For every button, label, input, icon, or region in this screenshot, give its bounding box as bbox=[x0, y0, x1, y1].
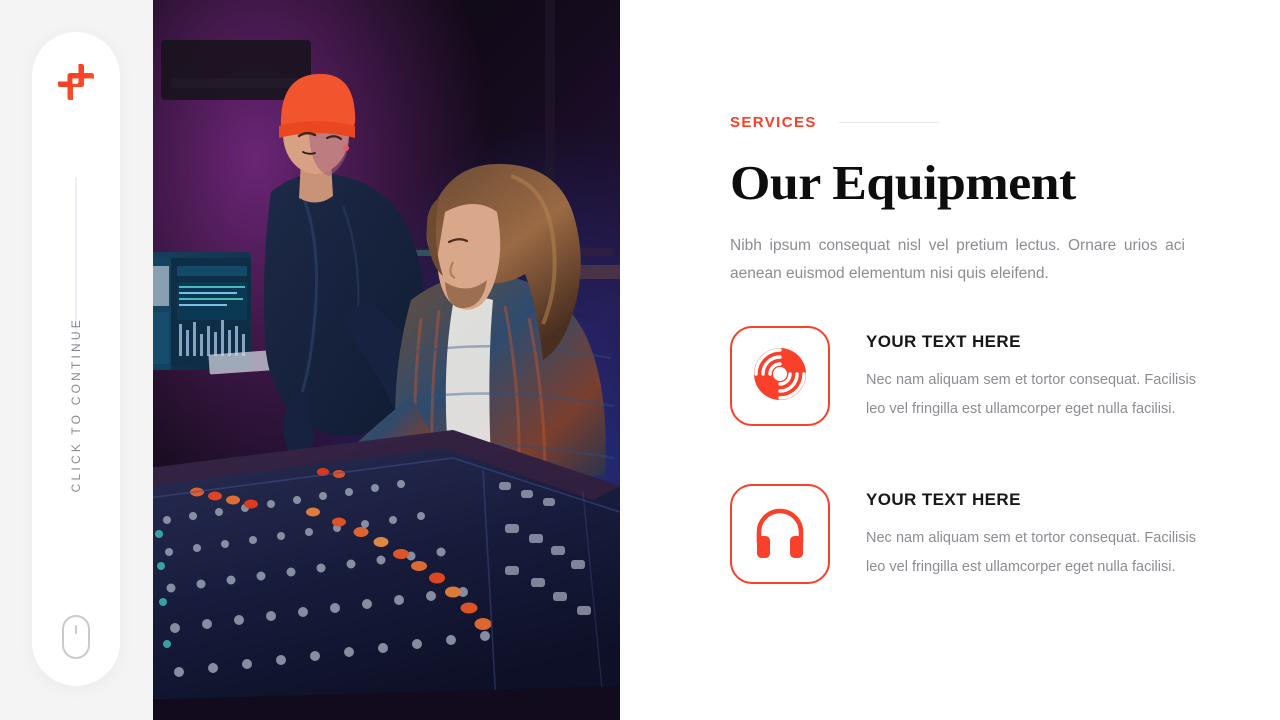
studio-photo-illustration bbox=[153, 0, 620, 720]
logo[interactable] bbox=[52, 60, 100, 108]
feature-title-2: YOUR TEXT HERE bbox=[866, 490, 1196, 510]
section-eyebrow: SERVICES bbox=[730, 114, 817, 131]
studio-photo bbox=[153, 0, 620, 720]
mouse-scroll-icon[interactable] bbox=[62, 615, 90, 659]
feature-item-1[interactable]: YOUR TEXT HERE Nec nam aliquam sem et to… bbox=[730, 326, 1200, 426]
feature-text-1: YOUR TEXT HERE Nec nam aliquam sem et to… bbox=[866, 326, 1196, 423]
feature-item-2[interactable]: YOUR TEXT HERE Nec nam aliquam sem et to… bbox=[730, 484, 1200, 584]
vinyl-record-icon bbox=[752, 346, 808, 407]
content-column: SERVICES Our Equipment Nibh ipsum conseq… bbox=[730, 0, 1200, 720]
page-title: Our Equipment bbox=[730, 157, 1076, 208]
sidebar-card: CLICK TO CONTINUE bbox=[32, 32, 120, 686]
feature-icon-frame-2[interactable] bbox=[730, 484, 830, 584]
eyebrow-divider bbox=[839, 122, 939, 123]
feature-body-1: Nec nam aliquam sem et tortor consequat.… bbox=[866, 366, 1196, 423]
feature-icon-frame-1[interactable] bbox=[730, 326, 830, 426]
feature-body-2: Nec nam aliquam sem et tortor consequat.… bbox=[866, 524, 1196, 581]
click-to-continue-label: CLICK TO CONTINUE bbox=[69, 317, 83, 492]
slide-root: CLICK TO CONTINUE bbox=[0, 0, 1280, 720]
intro-paragraph: Nibh ipsum consequat nisl vel pretium le… bbox=[730, 232, 1185, 288]
headphones-icon bbox=[752, 504, 808, 565]
eyebrow-row: SERVICES bbox=[730, 114, 1200, 131]
pinwheel-logo-icon bbox=[53, 59, 99, 110]
feature-text-2: YOUR TEXT HERE Nec nam aliquam sem et to… bbox=[866, 484, 1196, 581]
feature-title-1: YOUR TEXT HERE bbox=[866, 332, 1196, 352]
